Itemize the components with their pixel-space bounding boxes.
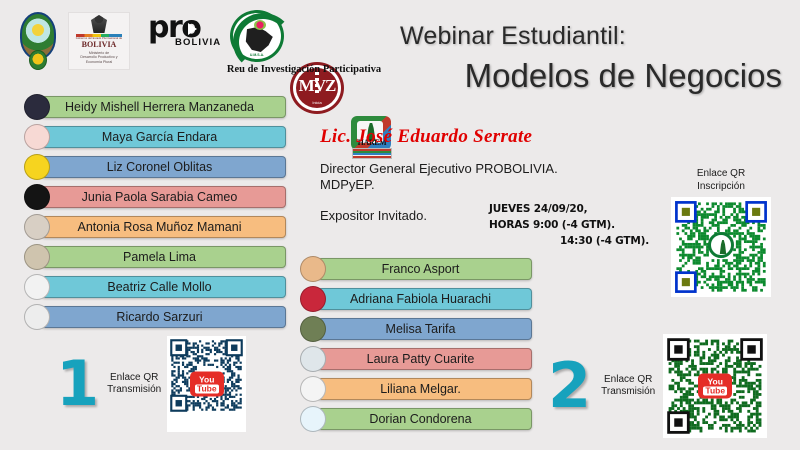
avatar (300, 376, 326, 402)
participant-name-label: Laura Patty Cuarite (367, 352, 475, 366)
avatar (300, 316, 326, 342)
speaker-role-line2: MDPyEP. (320, 177, 375, 192)
participant-row: Pamela Lima (24, 244, 286, 270)
qr-inscripcion-caption-line1: Enlace QR (648, 168, 794, 181)
qr-numeral-1: 1 (56, 356, 99, 412)
participant-name-label: Pamela Lima (123, 250, 196, 264)
participant-name-bar: Laura Patty Cuarite (317, 348, 532, 370)
youtube-icon: YouTube (698, 374, 732, 399)
page-title: Webinar Estudiantil: Modelos de Negocios (400, 22, 792, 95)
avatar (24, 94, 50, 120)
event-date: JUEVES 24/09/20, (489, 202, 649, 218)
qr-inscripcion-block[interactable]: Enlace QR Inscripción (648, 168, 794, 297)
avatar (24, 184, 50, 210)
participant-name-bar: Melisa Tarifa (317, 318, 532, 340)
qr-transmision-2-block[interactable]: 2 Enlace QR Transmisión YouTube (548, 334, 796, 438)
participant-name-bar: Dorian Condorena (317, 408, 532, 430)
participant-row: Adriana Fabiola Huarachi (300, 286, 532, 312)
qr-numeral-2: 2 (548, 358, 591, 414)
qr-transmision-2-caption-line2: Transmisión (601, 386, 655, 399)
participant-name-bar: Heidy Mishell Herrera Manzaneda (41, 96, 286, 118)
participant-row: Liz Coronel Oblitas (24, 154, 286, 180)
speaker-role-line1: Director General Ejecutivo PROBOLIVIA. (320, 161, 558, 176)
participant-name-bar: Franco Asport (317, 258, 532, 280)
participant-name-label: Franco Asport (382, 262, 460, 276)
qr-inscripcion-caption: Enlace QR Inscripción (648, 168, 794, 193)
avatar (24, 154, 50, 180)
probolivia-logo: pro BOLIVIA (148, 14, 232, 62)
speaker-name: Lic. José Eduardo Serrate (320, 126, 620, 148)
participant-name-label: Maya García Endara (102, 130, 217, 144)
event-time-2: 14:30 (-4 GTM). (489, 234, 649, 250)
avatar (300, 286, 326, 312)
participant-name-label: Liliana Melgar. (380, 382, 461, 396)
qr-transmision-1-code[interactable]: YouTube (167, 336, 246, 432)
speaker-role: Director General Ejecutivo PROBOLIVIA. M… (320, 161, 620, 194)
participant-name-bar: Maya García Endara (41, 126, 286, 148)
participant-name-bar: Adriana Fabiola Huarachi (317, 288, 532, 310)
qr-inscripcion-code[interactable] (671, 197, 771, 297)
participant-name-label: Antonia Rosa Muñoz Mamani (78, 220, 242, 234)
participant-name-label: Junia Paola Sarabia Cameo (82, 190, 238, 204)
qr-transmision-2-caption: Enlace QR Transmisión (601, 374, 655, 399)
title-line-1: Webinar Estudiantil: (400, 22, 792, 51)
avatar (24, 244, 50, 270)
participant-row: Antonia Rosa Muñoz Mamani (24, 214, 286, 240)
event-datetime: JUEVES 24/09/20, HORAS 9:00 (-4 GTM). 14… (489, 202, 649, 249)
avatar (24, 304, 50, 330)
participant-row: Liliana Melgar. (300, 376, 532, 402)
participant-name-bar: Antonia Rosa Muñoz Mamani (41, 216, 286, 238)
poster-canvas: Gobierno del Estado Plurinacional de BOL… (0, 0, 800, 450)
avatar (300, 346, 326, 372)
bolivia-state-seal-icon (18, 10, 58, 72)
participant-list-left: Heidy Mishell Herrera ManzanedaMaya Garc… (24, 94, 286, 334)
qr-transmision-1-caption: Enlace QR Transmisión (107, 372, 161, 397)
qr-transmision-2-code[interactable]: YouTube (663, 334, 767, 438)
qr-inscripcion-caption-line2: Inscripción (648, 181, 794, 194)
participant-name-bar: Beatriz Calle Mollo (41, 276, 286, 298)
umsa-green-badge-icon: U.M.S.A. (230, 10, 284, 62)
qr-transmision-2-caption-line1: Enlace QR (601, 374, 655, 387)
participant-list-middle: Franco AsportAdriana Fabiola HuarachiMel… (300, 256, 532, 436)
participant-name-label: Liz Coronel Oblitas (107, 160, 213, 174)
crest-icon (91, 15, 107, 33)
title-line-2: Modelos de Negocios (400, 57, 792, 95)
participant-name-label: Dorian Condorena (369, 412, 471, 426)
avatar (24, 124, 50, 150)
participant-row: Melisa Tarifa (300, 316, 532, 342)
umsa-qr-center-icon (708, 232, 734, 258)
ministry-logo-line2: BOLIVIA (82, 41, 117, 49)
participant-row: Junia Paola Sarabia Cameo (24, 184, 286, 210)
participant-row: Laura Patty Cuarite (300, 346, 532, 372)
participant-name-bar: Pamela Lima (41, 246, 286, 268)
vmz-badge-sub: Inicia (293, 100, 341, 105)
ministry-logo-line3: Ministerio deDesarrollo Productivo yEcon… (80, 51, 117, 64)
umsa-badge-label: U.M.S.A. (233, 53, 281, 57)
participant-name-label: Melisa Tarifa (386, 322, 456, 336)
event-time-1: HORAS 9:00 (-4 GTM). (489, 218, 649, 234)
participant-name-bar: Ricardo Sarzuri (41, 306, 286, 328)
participant-row: Franco Asport (300, 256, 532, 282)
qr-transmision-1-caption-line1: Enlace QR (107, 372, 161, 385)
participant-row: Dorian Condorena (300, 406, 532, 432)
avatar (24, 214, 50, 240)
participant-name-label: Beatriz Calle Mollo (107, 280, 211, 294)
participant-name-bar: Junia Paola Sarabia Cameo (41, 186, 286, 208)
participant-name-bar: Liliana Melgar. (317, 378, 532, 400)
participant-name-bar: Liz Coronel Oblitas (41, 156, 286, 178)
participant-name-label: Adriana Fabiola Huarachi (350, 292, 491, 306)
avatar (300, 256, 326, 282)
youtube-icon: YouTube (190, 372, 224, 397)
vmz-badge-label: MVZ (293, 77, 341, 94)
qr-transmision-1-block[interactable]: 1 Enlace QR Transmisión YouTube (56, 336, 246, 432)
avatar (24, 274, 50, 300)
ministry-logo: Gobierno del Estado Plurinacional de BOL… (68, 12, 130, 70)
participant-row: Ricardo Sarzuri (24, 304, 286, 330)
participant-name-label: Ricardo Sarzuri (116, 310, 202, 324)
qr-transmision-1-caption-line2: Transmisión (107, 384, 161, 397)
participant-row: Beatriz Calle Mollo (24, 274, 286, 300)
participant-name-label: Heidy Mishell Herrera Manzaneda (65, 100, 254, 114)
red-network-caption: Reu de Investigación Participativa (214, 64, 394, 75)
participant-row: Maya García Endara (24, 124, 286, 150)
avatar (300, 406, 326, 432)
participant-row: Heidy Mishell Herrera Manzaneda (24, 94, 286, 120)
